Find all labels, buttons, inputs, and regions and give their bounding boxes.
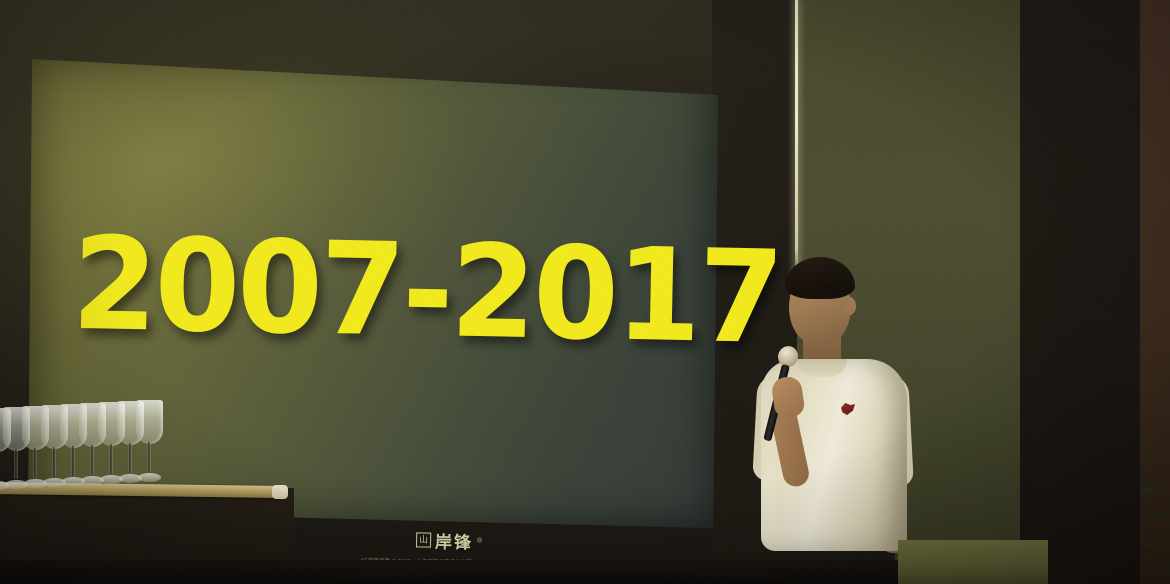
glassware-row	[0, 406, 172, 492]
brand-row: 山 岸锋 ®	[344, 526, 554, 555]
registered-trademark-icon: ®	[477, 538, 482, 545]
speaker-hair	[785, 257, 855, 299]
brand-name: 岸锋	[435, 528, 473, 554]
headline-text: 2007-2017	[71, 221, 669, 361]
presentation-photo: 2007-2017 山 岸锋 ® AF岸锋创意 © 2017 上海岸锋创意设计有…	[0, 0, 1170, 584]
plant-foliage	[1138, 474, 1170, 584]
speaker-ear	[844, 297, 856, 315]
wine-glass	[136, 400, 163, 482]
floor-lit-area	[898, 540, 1048, 584]
speaker-person	[745, 255, 960, 584]
brand-mark-icon: 山	[416, 532, 431, 547]
vertical-light-strip	[795, 0, 798, 292]
floor-dark	[0, 560, 900, 584]
wall-column-dark	[1020, 0, 1140, 584]
slide-headline: 2007-2017	[71, 221, 693, 361]
